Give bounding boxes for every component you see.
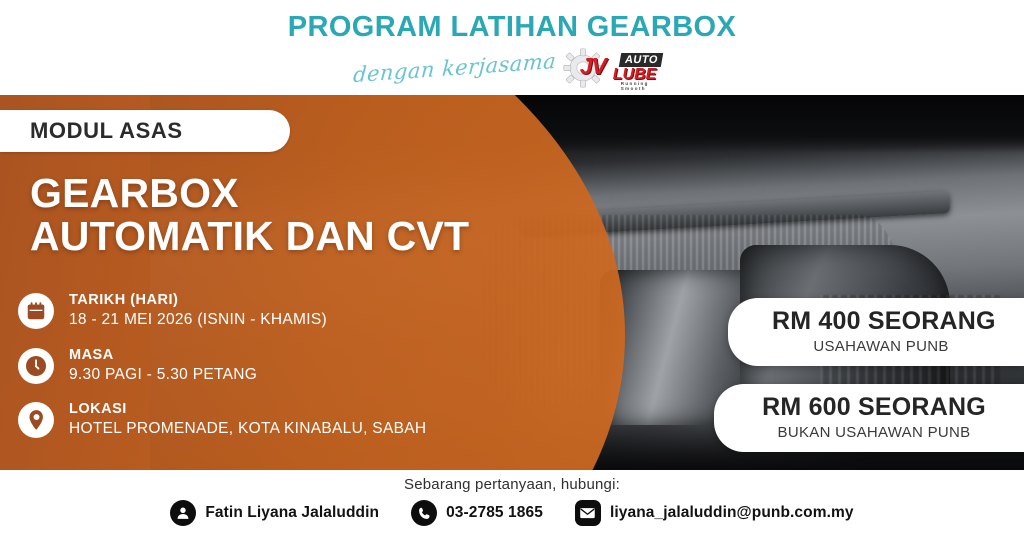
detail-value-location: HOTEL PROMENADE, KOTA KINABALU, SABAH xyxy=(69,419,426,439)
banner-footer: Sebarang pertanyaan, hubungi: Fatin Liya… xyxy=(0,470,1024,536)
phone-icon xyxy=(411,500,437,526)
promo-banner: MODUL ASAS GEARBOX AUTOMATIK DAN CVT TAR… xyxy=(0,0,1024,536)
detail-text-time: MASA 9.30 PAGI - 5.30 PETANG xyxy=(69,347,257,386)
footer-lead-text: Sebarang pertanyaan, hubungi: xyxy=(0,476,1024,493)
price-card-punb: RM 400 SEORANG USAHAWAN PUNB xyxy=(728,298,1024,366)
logo-tagline: Running Smooth xyxy=(621,81,671,91)
detail-text-date: TARIKH (HARI) 18 - 21 MEI 2026 (ISNIN - … xyxy=(69,292,327,331)
price-audience-non-punb: BUKAN USAHAWAN PUNB xyxy=(758,424,990,441)
detail-label-time: MASA xyxy=(69,347,257,364)
logo-word-auto: AUTO xyxy=(619,53,663,67)
module-badge: MODUL ASAS xyxy=(0,110,290,152)
contact-phone[interactable]: 03-2785 1865 xyxy=(411,500,543,526)
course-title-line-1: GEARBOX xyxy=(30,172,469,215)
clock-icon xyxy=(18,348,54,384)
calendar-icon xyxy=(18,293,54,329)
price-audience-punb: USAHAWAN PUNB xyxy=(772,338,990,355)
contact-email[interactable]: liyana_jalaluddin@punb.com.my xyxy=(575,500,854,526)
detail-label-location: LOKASI xyxy=(69,401,426,418)
contact-phone-number: 03-2785 1865 xyxy=(446,504,543,522)
course-title: GEARBOX AUTOMATIK DAN CVT xyxy=(30,172,469,257)
detail-value-date: 18 - 21 MEI 2026 (ISNIN - KHAMIS) xyxy=(69,310,327,330)
location-pin-icon xyxy=(18,402,54,438)
module-badge-label: MODUL ASAS xyxy=(30,118,183,144)
logo-brand-mark: JV xyxy=(580,53,606,80)
course-title-line-2: AUTOMATIK DAN CVT xyxy=(30,215,469,258)
contact-email-address: liyana_jalaluddin@punb.com.my xyxy=(610,504,854,522)
detail-text-location: LOKASI HOTEL PROMENADE, KOTA KINABALU, S… xyxy=(69,401,426,440)
detail-label-date: TARIKH (HARI) xyxy=(69,292,327,309)
price-card-non-punb: RM 600 SEORANG BUKAN USAHAWAN PUNB xyxy=(714,384,1024,452)
price-amount-non-punb: RM 600 SEORANG xyxy=(758,393,990,422)
detail-value-time: 9.30 PAGI - 5.30 PETANG xyxy=(69,365,257,385)
page-title: PROGRAM LATIHAN GEARBOX xyxy=(0,11,1024,44)
detail-row-time: MASA 9.30 PAGI - 5.30 PETANG xyxy=(18,347,426,386)
collaboration-row: dengan kerjasama xyxy=(0,46,1024,90)
detail-row-location: LOKASI HOTEL PROMENADE, KOTA KINABALU, S… xyxy=(18,401,426,440)
detail-row-date: TARIKH (HARI) 18 - 21 MEI 2026 (ISNIN - … xyxy=(18,292,426,331)
person-icon xyxy=(170,500,196,526)
contact-person: Fatin Liyana Jalaluddin xyxy=(170,500,379,526)
contact-row: Fatin Liyana Jalaluddin 03-2785 1865 xyxy=(0,500,1024,526)
price-amount-punb: RM 400 SEORANG xyxy=(772,307,990,336)
jv-auto-lube-logo: JV AUTO LUBE Running Smooth xyxy=(563,47,671,89)
event-details-list: TARIKH (HARI) 18 - 21 MEI 2026 (ISNIN - … xyxy=(18,292,426,456)
contact-person-name: Fatin Liyana Jalaluddin xyxy=(205,504,379,522)
banner-header: PROGRAM LATIHAN GEARBOX dengan kerjasama xyxy=(0,0,1024,95)
envelope-icon xyxy=(575,500,601,526)
collaboration-script-text: dengan kerjasama xyxy=(353,49,558,87)
